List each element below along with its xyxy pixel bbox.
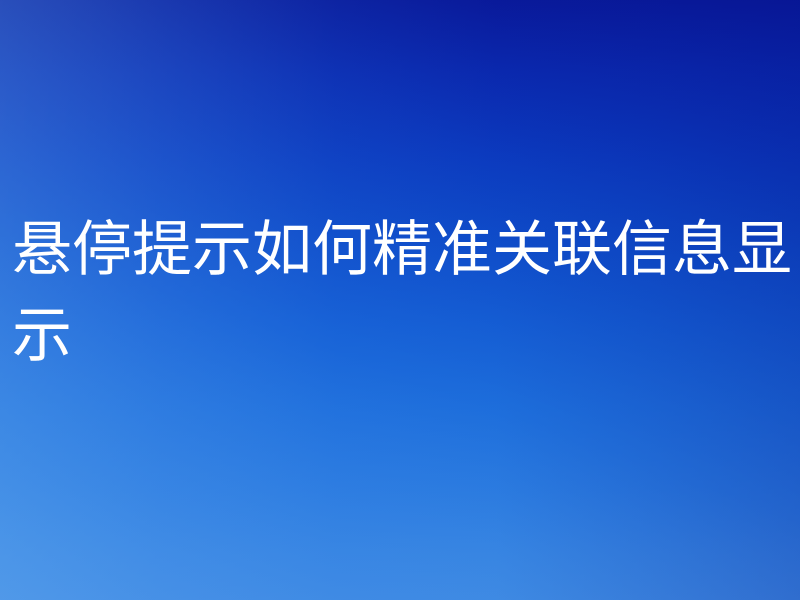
- page-title: 悬停提示如何精准关联信息显示: [12, 207, 798, 379]
- headline-container: 悬停提示如何精准关联信息显示: [0, 0, 800, 600]
- title-card-banner: 悬停提示如何精准关联信息显示: [0, 0, 800, 600]
